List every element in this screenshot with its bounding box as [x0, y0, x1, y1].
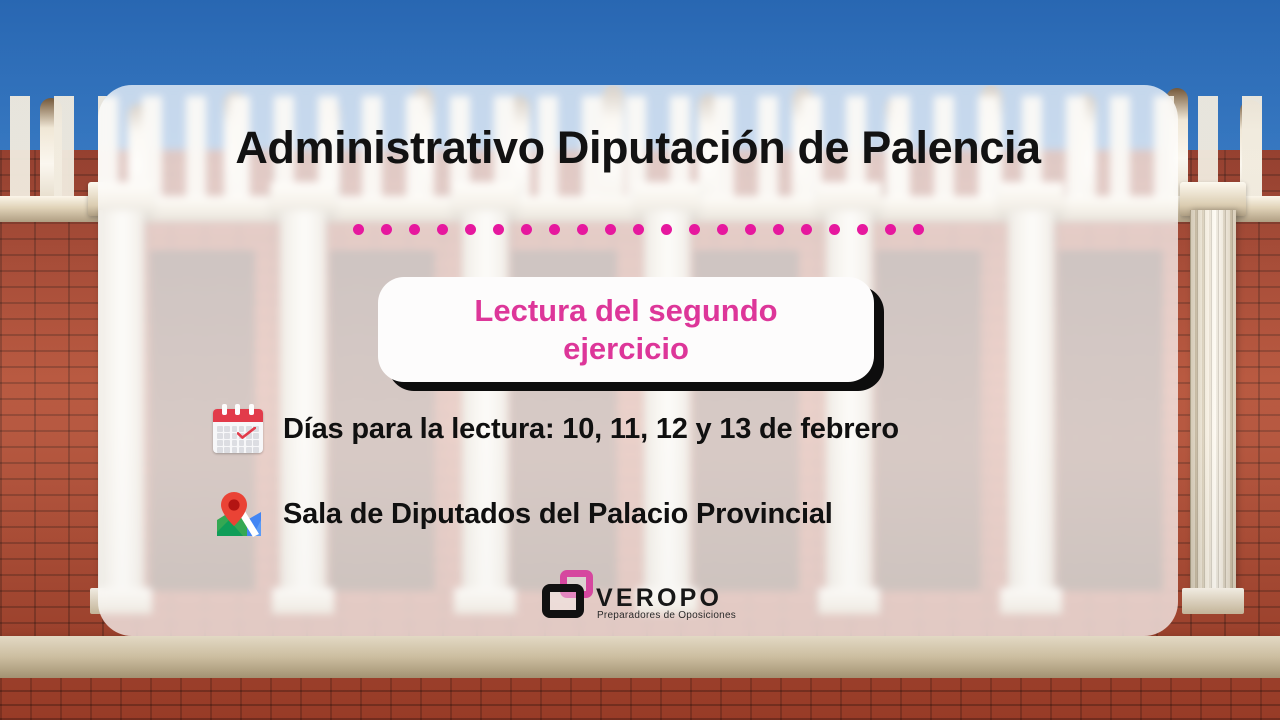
- divider-dot: [521, 224, 532, 235]
- callout-text: Lectura del segundo ejercicio: [456, 292, 795, 368]
- divider-dot: [577, 224, 588, 235]
- calendar-check-mark: [237, 427, 256, 439]
- divider-dot: [605, 224, 616, 235]
- calendar-icon: [213, 405, 263, 453]
- logo-black-square-icon: [542, 584, 584, 618]
- logo-tagline: Preparadores de Oposiciones: [597, 611, 736, 621]
- calendar-ring: [235, 404, 240, 415]
- divider-dot: [465, 224, 476, 235]
- divider-dot: [381, 224, 392, 235]
- page-title: Administrativo Diputación de Palencia: [98, 122, 1178, 174]
- callout-line-2: ejercicio: [474, 330, 777, 368]
- detail-text-location: Sala de Diputados del Palacio Provincial: [283, 498, 833, 531]
- divider-dot: [409, 224, 420, 235]
- detail-row-dates: Días para la lectura: 10, 11, 12 y 13 de…: [213, 405, 899, 453]
- poster-canvas: Administrativo Diputación de Palencia Le…: [0, 0, 1280, 720]
- divider-dot: [773, 224, 784, 235]
- divider-dot: [549, 224, 560, 235]
- divider-dot: [717, 224, 728, 235]
- detail-row-location: Sala de Diputados del Palacio Provincial: [213, 490, 833, 538]
- divider-dot: [493, 224, 504, 235]
- logo-wordmark: VEROPO: [596, 586, 722, 611]
- divider-dot: [801, 224, 812, 235]
- divider-dot: [661, 224, 672, 235]
- calendar-ring: [249, 404, 254, 415]
- veropo-logo: VEROPO Preparadores de Oposiciones: [540, 570, 740, 628]
- calendar-body: [213, 409, 263, 453]
- map-pin-icon: [213, 490, 263, 538]
- detail-text-dates: Días para la lectura: 10, 11, 12 y 13 de…: [283, 413, 899, 446]
- callout-card: Lectura del segundo ejercicio: [378, 277, 874, 382]
- divider-dot: [829, 224, 840, 235]
- calendar-ring: [222, 404, 227, 415]
- dot-divider-icon: [98, 224, 1178, 235]
- divider-dot: [745, 224, 756, 235]
- map-pin-glyph: [213, 490, 263, 538]
- divider-dot: [913, 224, 924, 235]
- divider-dot: [437, 224, 448, 235]
- divider-dot: [885, 224, 896, 235]
- callout-line-1: Lectura del segundo: [474, 292, 777, 330]
- divider-dot: [857, 224, 868, 235]
- divider-dot: [353, 224, 364, 235]
- callout-card-surface: Lectura del segundo ejercicio: [378, 277, 874, 382]
- divider-dot: [633, 224, 644, 235]
- divider-dot: [689, 224, 700, 235]
